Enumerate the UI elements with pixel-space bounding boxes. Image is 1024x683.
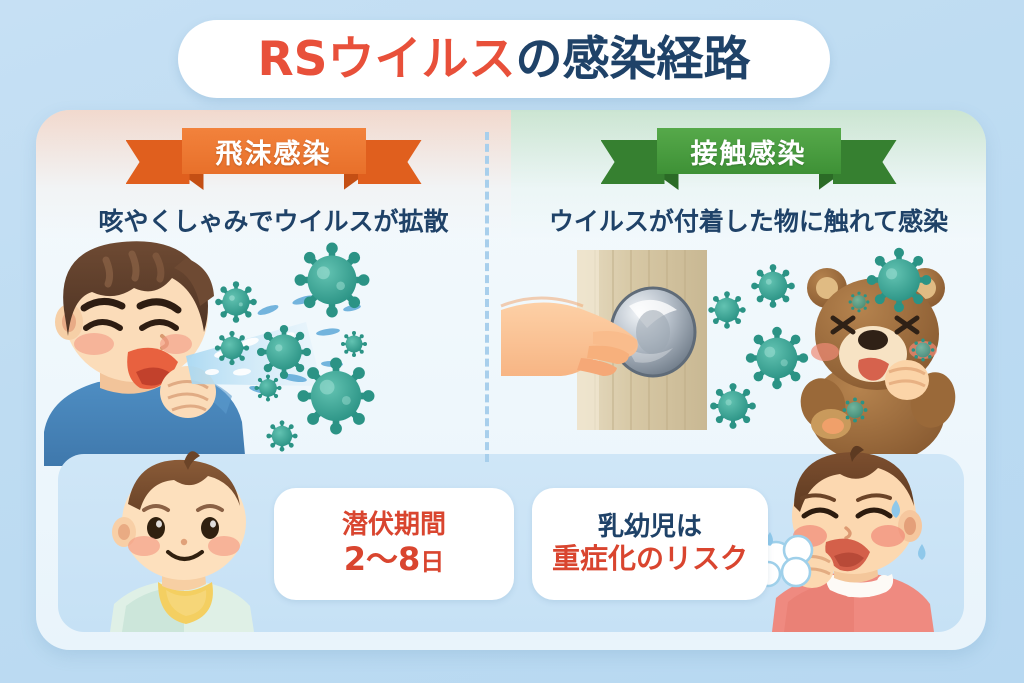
caption-droplet: 咳やくしゃみでウイルスが拡散: [36, 202, 511, 238]
panel-droplet-infection: 飛沫感染 咳やくしゃみでウイルスが拡散: [36, 110, 511, 470]
panel-divider: [485, 132, 489, 462]
infant-risk-line2: 重症化のリスク: [552, 543, 748, 575]
ribbon-droplet-infection: 飛沫感染: [182, 128, 366, 190]
infographic-canvas: RSウイルスの感染経路 飛沫感染 咳やくしゃみでウイルスが拡散: [0, 0, 1024, 683]
ribbon-label-droplet: 飛沫感染: [182, 128, 366, 174]
summary-band: 潜伏期間 2〜8日 乳幼児は 重症化のリスク: [58, 454, 964, 632]
content-card: 飛沫感染 咳やくしゃみでウイルスが拡散: [36, 110, 986, 650]
incubation-unit: 日: [420, 548, 444, 576]
title-highlight: RSウイルス: [257, 32, 515, 87]
illustration-coughing-boy: [36, 236, 511, 466]
illustration-smiling-baby: [88, 454, 278, 632]
panel-contact-infection: 接触感染 ウイルスが付着した物に触れて感染: [511, 110, 986, 470]
illustration-doorknob-and-teddy: [511, 236, 986, 466]
title-rest: の感染経路: [516, 32, 751, 87]
fact-infant-risk: 乳幼児は 重症化のリスク: [532, 488, 768, 600]
illustration-crying-baby: [754, 450, 954, 632]
incubation-number: 2〜8: [344, 540, 421, 578]
incubation-value: 2〜8日: [344, 541, 445, 578]
ribbon-tail-left: [126, 140, 190, 184]
infant-risk-line1: 乳幼児は: [598, 513, 702, 543]
ribbon-tail-right: [358, 140, 422, 184]
page-title-text: RSウイルスの感染経路: [257, 36, 750, 83]
caption-contact: ウイルスが付着した物に触れて感染: [511, 202, 986, 238]
incubation-label: 潜伏期間: [342, 511, 446, 541]
fact-incubation-period: 潜伏期間 2〜8日: [274, 488, 514, 600]
ribbon-label-contact: 接触感染: [657, 128, 841, 174]
ribbon-tail-right: [833, 140, 897, 184]
ribbon-tail-left: [601, 140, 665, 184]
page-title: RSウイルスの感染経路: [178, 20, 830, 98]
ribbon-contact-infection: 接触感染: [657, 128, 841, 190]
